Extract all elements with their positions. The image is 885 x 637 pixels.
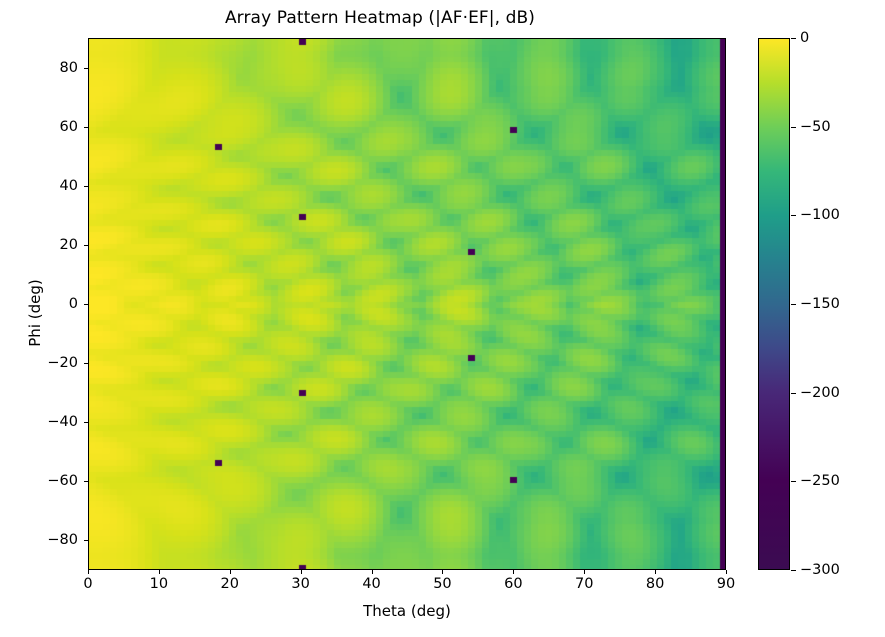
x-tick-label: 0 (83, 576, 92, 592)
colorbar-tick-mark (791, 481, 796, 482)
x-tick-label: 30 (291, 576, 309, 592)
x-tick-label: 20 (221, 576, 239, 592)
y-tick-mark (84, 186, 88, 187)
x-tick-label: 40 (362, 576, 380, 592)
y-tick-label: −80 (0, 532, 78, 548)
y-tick-mark (84, 68, 88, 69)
x-axis-title: Theta (deg) (88, 602, 726, 620)
x-tick-label: 50 (433, 576, 451, 592)
x-tick-label: 10 (150, 576, 168, 592)
x-tick-mark (372, 570, 373, 574)
figure-canvas: Array Pattern Heatmap (|AF·EF|, dB) 0102… (0, 0, 885, 637)
colorbar-tick-mark (791, 38, 796, 39)
colorbar-tick-mark (791, 215, 796, 216)
y-tick-mark (84, 127, 88, 128)
x-tick-label: 60 (504, 576, 522, 592)
colorbar-tick-label: −100 (800, 207, 840, 223)
y-tick-mark (84, 363, 88, 364)
y-tick-mark (84, 304, 88, 305)
y-tick-label: 60 (0, 119, 78, 135)
y-axis-title: Phi (deg) (26, 183, 44, 443)
y-tick-label: −60 (0, 473, 78, 489)
colorbar-tick-label: −50 (800, 119, 831, 135)
chart-title: Array Pattern Heatmap (|AF·EF|, dB) (0, 8, 760, 28)
x-tick-mark (513, 570, 514, 574)
colorbar-tick-label: 0 (800, 30, 809, 46)
x-tick-mark (584, 570, 585, 574)
colorbar-tick-label: −250 (800, 473, 840, 489)
y-tick-mark (84, 245, 88, 246)
heatmap-plot-area[interactable] (88, 38, 726, 570)
colorbar-tick-label: −150 (800, 296, 840, 312)
colorbar-tick-mark (791, 393, 796, 394)
x-tick-mark (159, 570, 160, 574)
x-tick-mark (442, 570, 443, 574)
x-tick-mark (301, 570, 302, 574)
colorbar-tick-mark (791, 304, 796, 305)
colorbar[interactable] (758, 38, 790, 570)
x-tick-mark (88, 570, 89, 574)
colorbar-tick-mark (791, 127, 796, 128)
x-tick-mark (726, 570, 727, 574)
colorbar-tick-label: −200 (800, 385, 840, 401)
y-tick-label: 80 (0, 60, 78, 76)
x-tick-mark (655, 570, 656, 574)
y-tick-mark (84, 540, 88, 541)
colorbar-tick-label: −300 (800, 562, 840, 578)
x-tick-mark (230, 570, 231, 574)
heatmap-image (89, 39, 726, 570)
x-tick-label: 80 (646, 576, 664, 592)
x-tick-label: 90 (717, 576, 735, 592)
colorbar-tick-mark (791, 570, 796, 571)
x-tick-label: 70 (575, 576, 593, 592)
y-tick-mark (84, 422, 88, 423)
y-tick-mark (84, 481, 88, 482)
